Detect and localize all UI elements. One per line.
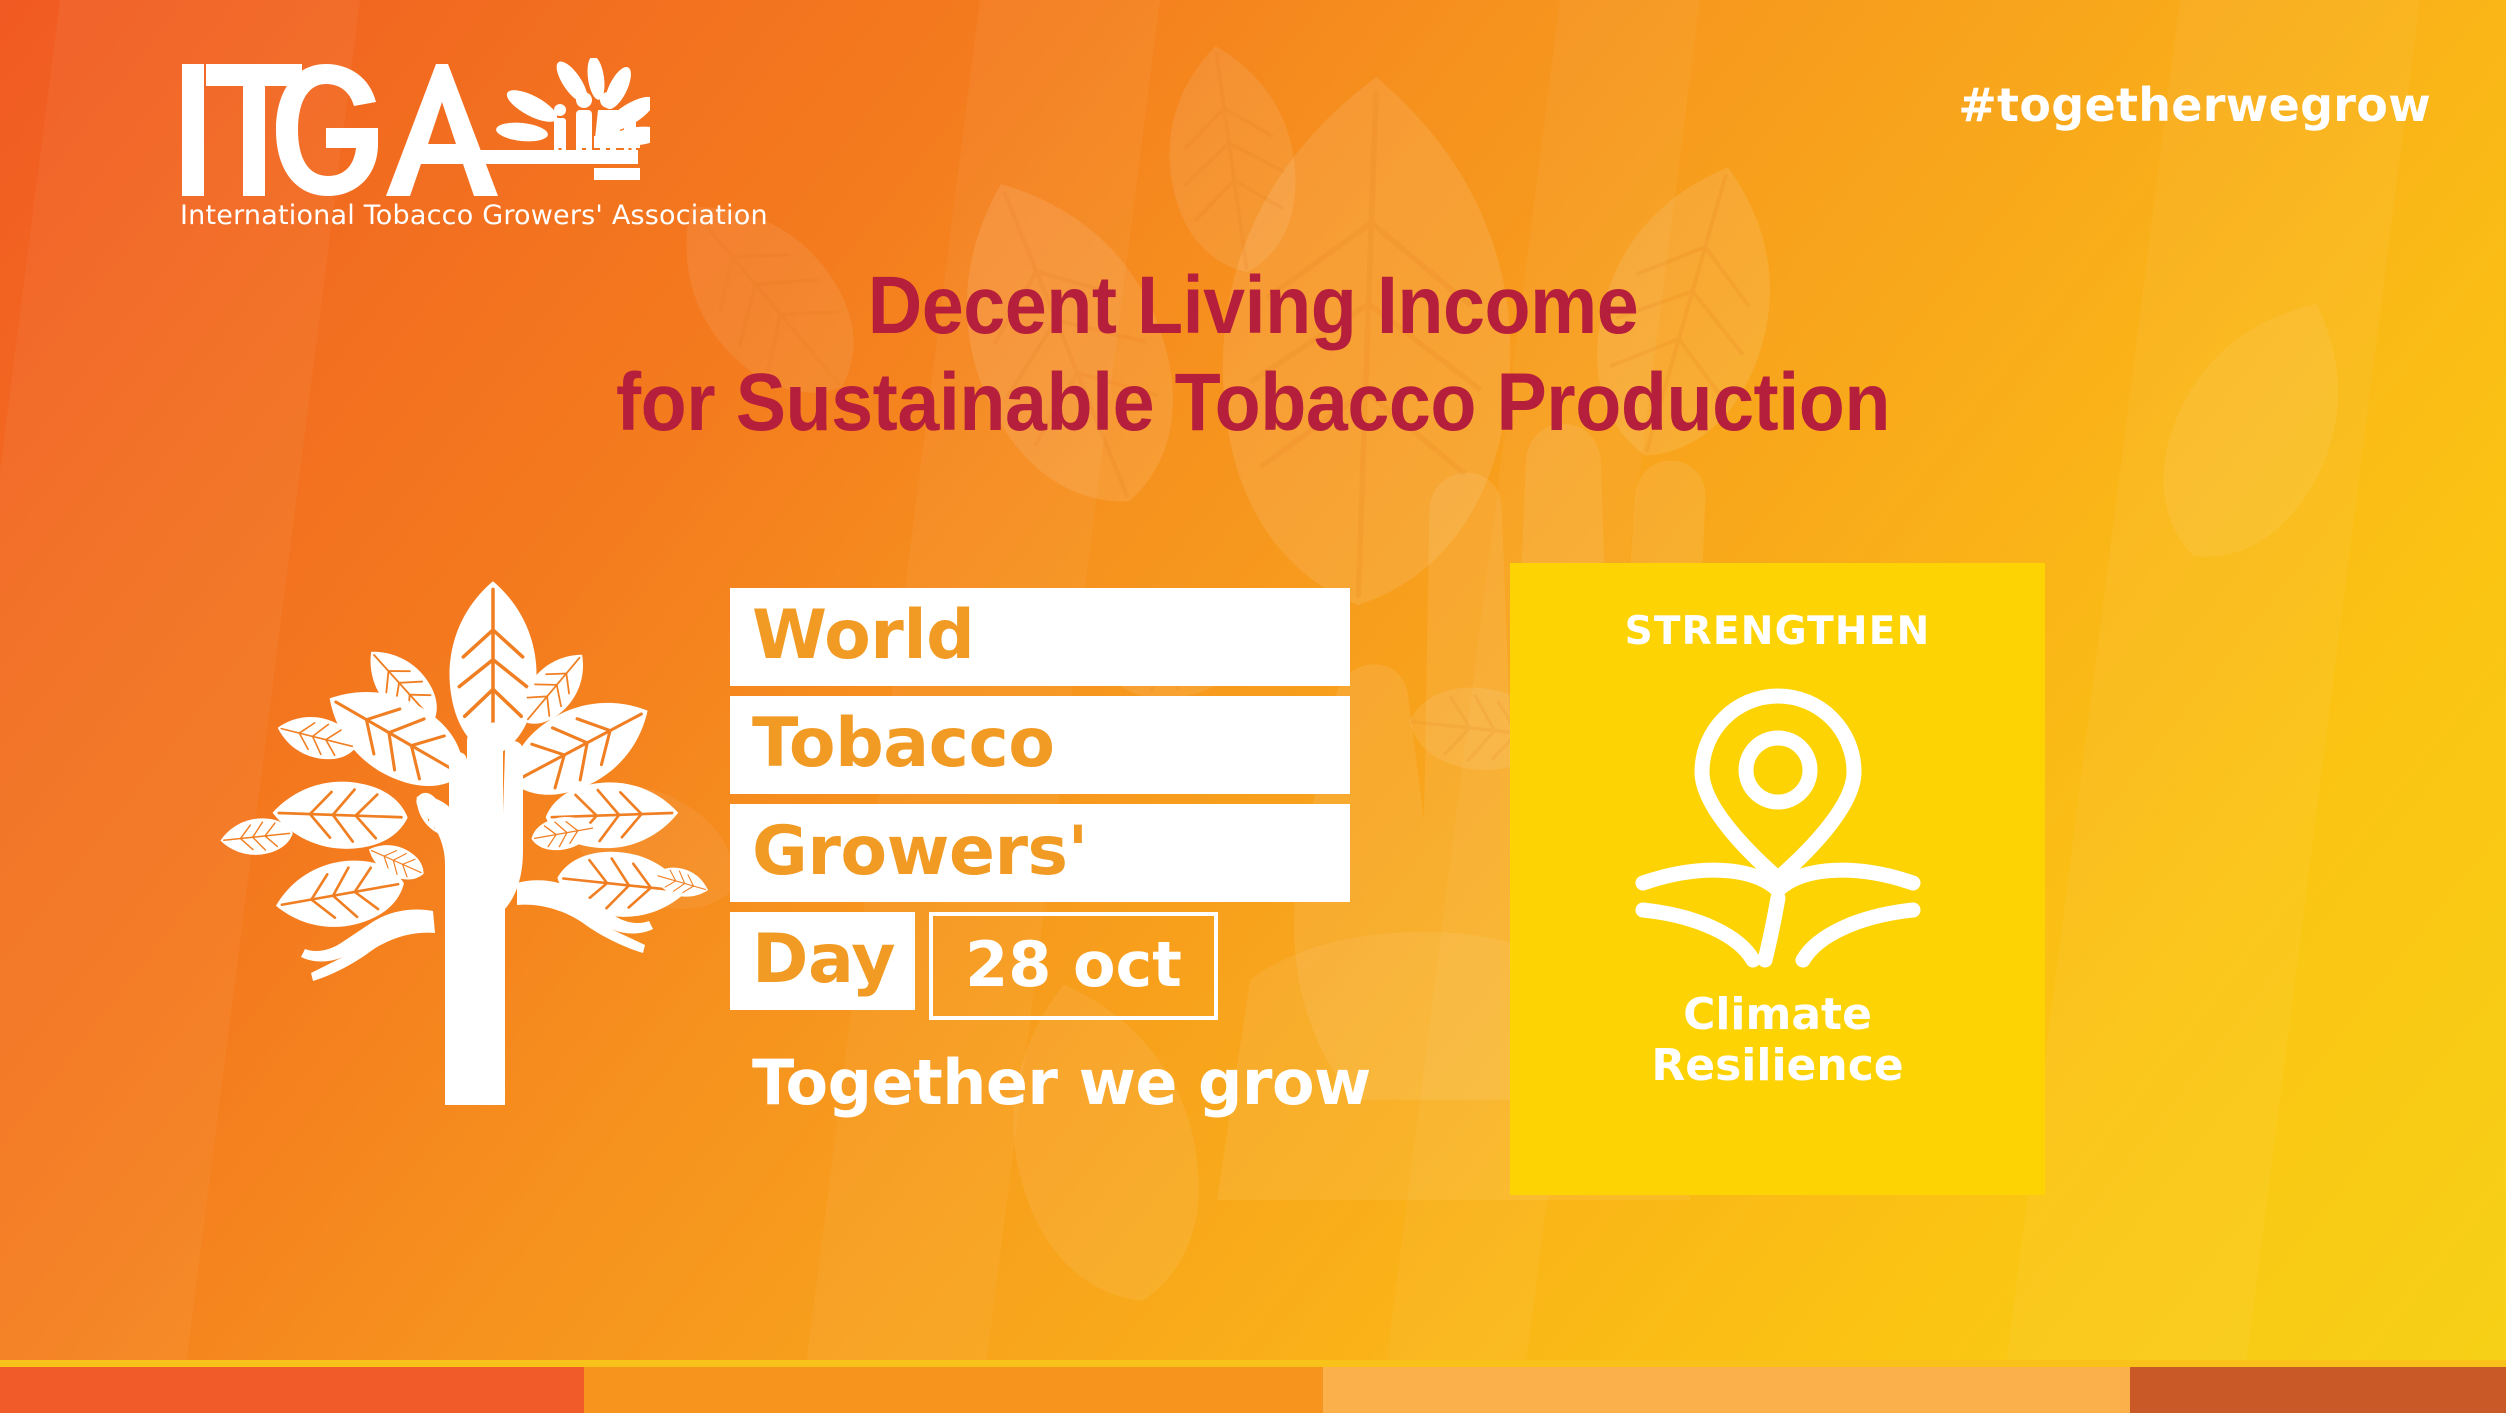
- hands-tree-illustration: [205, 565, 715, 1105]
- itga-logo-mark: [180, 58, 650, 198]
- footer-color-segment-3: [1323, 1367, 2130, 1413]
- headline-line-1: Decent Living Income: [868, 260, 1639, 351]
- wtgd-word-world: World: [730, 588, 1350, 686]
- footer-color-segment-4: [2130, 1367, 2506, 1413]
- page-title: Decent Living Income for Sustainable Tob…: [100, 258, 2406, 452]
- footer-accent-strip: [0, 1360, 2506, 1367]
- wtgd-word-tobacco: Tobacco: [730, 696, 1350, 794]
- wtgd-lockup: World Tobacco Growers' Day 28 oct Togeth…: [730, 588, 1350, 1119]
- footer-color-bar: [0, 1367, 2506, 1413]
- itga-logo[interactable]: International Tobacco Growers' Associati…: [180, 58, 650, 231]
- pillar-card-title-line-1: Climate: [1683, 989, 1872, 1040]
- event-tagline: Together we grow: [752, 1046, 1350, 1119]
- wtgd-word-day: Day: [730, 912, 915, 1010]
- pillar-card-kicker: STRENGTHEN: [1625, 609, 1931, 654]
- wtgd-word-growers: Growers': [730, 804, 1350, 902]
- headline-line-2: for Sustainable Tobacco Production: [100, 355, 2406, 452]
- pillar-card-climate-resilience[interactable]: STRENGTHEN Climate Resilience: [1510, 563, 2045, 1195]
- footer-color-segment-1: [0, 1367, 584, 1413]
- promotional-banner: International Tobacco Growers' Associati…: [0, 0, 2506, 1413]
- hashtag-togetherwegrow: #togetherwegrow: [1958, 78, 2431, 132]
- event-date-badge: 28 oct: [929, 912, 1218, 1020]
- itga-logo-subtitle: International Tobacco Growers' Associati…: [180, 200, 650, 231]
- map-pin-over-fields-icon: [1613, 668, 1943, 968]
- pillar-card-title-line-2: Resilience: [1651, 1040, 1903, 1091]
- pillar-card-title: Climate Resilience: [1651, 990, 1903, 1091]
- footer-color-segment-2: [584, 1367, 1323, 1413]
